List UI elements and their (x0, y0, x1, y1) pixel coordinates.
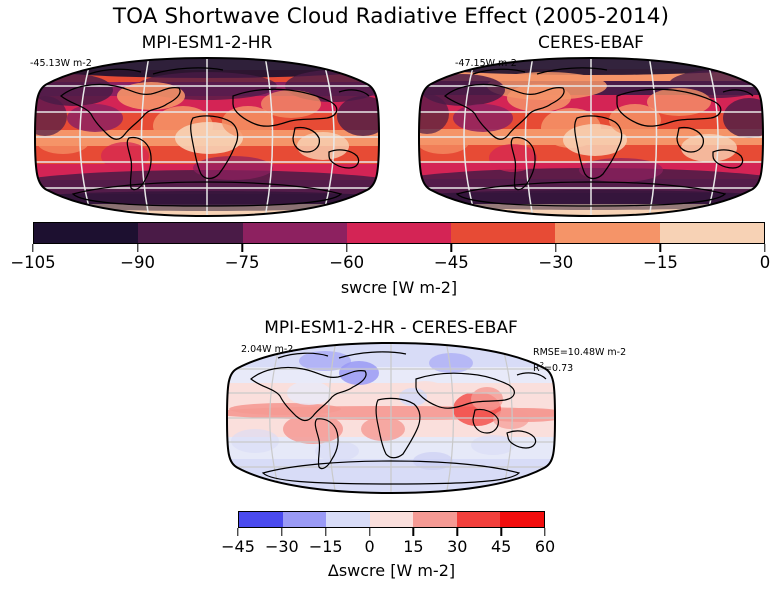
colorbar-delta-gradient (238, 511, 545, 528)
colorbar-delta-bin-2 (283, 512, 327, 527)
tick-label: −30 (265, 537, 299, 556)
stat-r2: R2=0.73 (533, 360, 626, 376)
tick-label: −45 (434, 253, 469, 272)
annotation-difference-stats: RMSE=10.48W m-2 R2=0.73 (533, 346, 626, 376)
annotation-difference-mean: 2.04W m-2 (241, 344, 293, 356)
map-difference-swcre (225, 341, 557, 496)
map-model-graticule (33, 56, 381, 218)
tick-label: −75 (225, 253, 260, 272)
tick-label: −30 (538, 253, 573, 272)
colorbar-delta-bin-3 (326, 512, 370, 527)
colorbar-delta-tick-labels: −45 −30 −15 0 15 30 45 60 (238, 537, 545, 557)
tick-label: −45 (221, 537, 255, 556)
stat-rmse: RMSE=10.48W m-2 (533, 346, 626, 360)
colorbar-delta-bin-1 (239, 512, 283, 527)
colorbar-delta-label: Δswcre [W m-2] (238, 561, 545, 580)
map-observation-graticule (417, 56, 765, 218)
colorbar-swcre-gradient (33, 222, 765, 244)
colorbar-bin-3 (243, 223, 347, 243)
map-model-swcre (33, 56, 381, 218)
stat-r2-value: =0.73 (544, 363, 573, 374)
colorbar-swcre-ticks (33, 244, 765, 253)
colorbar-swcre-label: swcre [W m-2] (33, 278, 765, 297)
annotation-model-mean: -45.13W m-2 (30, 58, 92, 70)
tick-label: −60 (329, 253, 364, 272)
annotation-observation-mean: -47.15W m-2 (455, 58, 517, 70)
tick-label: 60 (535, 537, 555, 556)
tick-label: −105 (10, 253, 55, 272)
figure-title: TOA Shortwave Cloud Radiative Effect (20… (0, 4, 782, 29)
colorbar-delta-swcre: −45 −30 −15 0 15 30 45 60 Δswcre [W m-2] (238, 511, 545, 580)
colorbar-delta-bin-5 (413, 512, 457, 527)
colorbar-delta-bin-7 (500, 512, 544, 527)
colorbar-swcre-tick-labels: −105 −90 −75 −60 −45 −30 −15 0 (33, 253, 765, 273)
tick-label: −15 (643, 253, 678, 272)
map-difference-graticule (225, 341, 557, 496)
tick-label: −15 (309, 537, 343, 556)
panel-title-difference: MPI-ESM1-2-HR - CERES-EBAF (225, 318, 557, 338)
panel-title-observation: CERES-EBAF (417, 33, 765, 53)
tick-label: 30 (447, 537, 467, 556)
panel-title-model: MPI-ESM1-2-HR (33, 33, 381, 53)
tick-label: −90 (120, 253, 155, 272)
tick-label: 0 (364, 537, 374, 556)
colorbar-bin-1 (34, 223, 138, 243)
tick-label: 45 (491, 537, 511, 556)
figure-canvas: TOA Shortwave Cloud Radiative Effect (20… (0, 0, 782, 591)
colorbar-delta-ticks (238, 528, 545, 537)
colorbar-bin-5 (451, 223, 555, 243)
colorbar-bin-4 (347, 223, 451, 243)
tick-label: 0 (760, 253, 771, 272)
colorbar-bin-6 (555, 223, 659, 243)
colorbar-swcre: −105 −90 −75 −60 −45 −30 −15 0 swcre [W … (33, 222, 765, 297)
colorbar-bin-7 (660, 223, 764, 243)
map-observation-swcre (417, 56, 765, 218)
colorbar-delta-bin-4 (370, 512, 414, 527)
tick-label: 15 (403, 537, 423, 556)
stat-r2-prefix: R (533, 363, 540, 374)
colorbar-delta-bin-6 (457, 512, 501, 527)
colorbar-bin-2 (138, 223, 242, 243)
